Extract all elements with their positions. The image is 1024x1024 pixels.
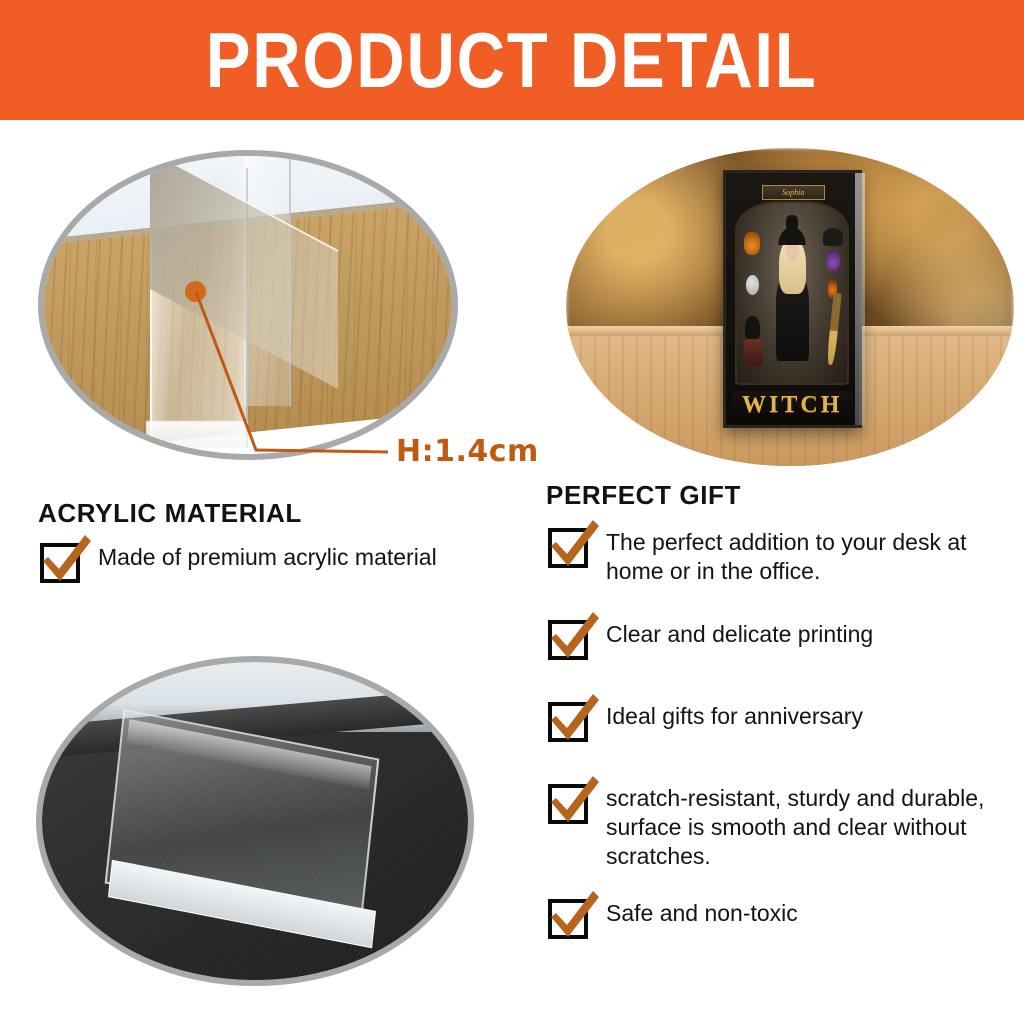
header-banner: PRODUCT DETAIL — [0, 0, 1024, 120]
witch-hat-icon — [776, 224, 807, 244]
feature-item-acrylic-0: Made of premium acrylic material — [40, 543, 437, 583]
slate-surface — [42, 662, 468, 980]
potion-prop-icon — [826, 250, 839, 272]
checkbox-checked-icon — [40, 543, 80, 583]
acrylic-edge-scene — [44, 156, 452, 454]
feature-item-gift-4: Safe and non-toxic — [548, 899, 798, 939]
dimension-label: H:1.4cm — [396, 434, 539, 469]
box-nameplate: Sophia — [762, 185, 825, 201]
plastic-wrap-sheen — [855, 173, 866, 425]
checkbox-checked-icon — [548, 528, 588, 568]
crystal-ball-prop-icon — [746, 275, 759, 295]
checkbox-checked-icon — [548, 784, 588, 824]
feature-text: Made of premium acrylic material — [98, 543, 437, 572]
spare-hat-prop-icon — [823, 228, 843, 246]
photo-acrylic-block — [36, 656, 474, 986]
broom-prop-icon — [826, 293, 841, 365]
box-title-plate: WITCH — [731, 391, 853, 421]
callout-dot-icon — [185, 281, 206, 302]
photo-product-box: Sophia WITCH — [566, 148, 1014, 466]
heading-perfect-gift: PERFECT GIFT — [546, 480, 741, 511]
page-title: PRODUCT DETAIL — [206, 21, 818, 99]
feature-text: Clear and delicate printing — [606, 620, 873, 649]
feature-item-gift-0: The perfect addition to your desk at hom… — [548, 528, 1006, 586]
product-detail-infographic: PRODUCT DETAIL H:1.4cm Sophia — [0, 0, 1024, 1024]
box-window — [735, 201, 849, 385]
product-display-box: Sophia WITCH — [723, 170, 862, 428]
feature-text: scratch-resistant, sturdy and durable, s… — [606, 784, 1006, 871]
feature-text: Ideal gifts for anniversary — [606, 702, 863, 731]
box-title-text: WITCH — [742, 392, 842, 419]
photo-acrylic-edge — [38, 150, 458, 460]
acrylic-base-highlight — [146, 421, 248, 448]
feature-text: Safe and non-toxic — [606, 899, 798, 928]
heading-acrylic-material: ACRYLIC MATERIAL — [38, 498, 302, 529]
feature-text: The perfect addition to your desk at hom… — [606, 528, 1006, 586]
feature-item-gift-3: scratch-resistant, sturdy and durable, s… — [548, 784, 1006, 871]
spell-book-prop-icon — [744, 339, 763, 366]
black-cat-prop-icon — [745, 316, 760, 339]
nameplate-text: Sophia — [782, 188, 804, 197]
feature-item-gift-2: Ideal gifts for anniversary — [548, 702, 863, 742]
feature-item-gift-1: Clear and delicate printing — [548, 620, 873, 660]
checkbox-checked-icon — [548, 899, 588, 939]
checkbox-checked-icon — [548, 702, 588, 742]
checkbox-checked-icon — [548, 620, 588, 660]
lamp-prop-icon — [744, 232, 761, 255]
witch-doll-figure — [773, 224, 810, 361]
